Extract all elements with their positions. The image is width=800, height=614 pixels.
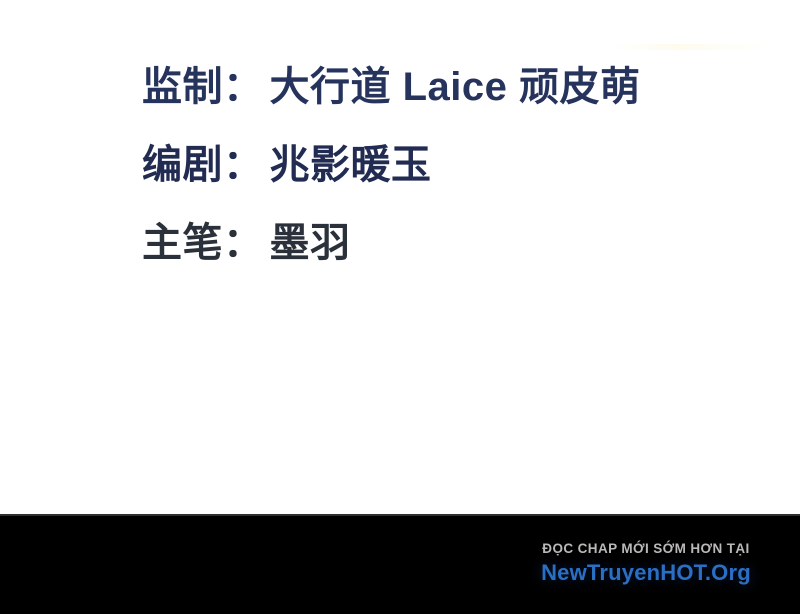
credit-names: 大行道 Laice 顽皮萌 <box>270 65 641 109</box>
footer-watermark-bar: ĐỌC CHAP MỚI SỚM HƠN TẠI NewTruyenHOT.Or… <box>0 514 800 614</box>
credit-role-label: 主笔： <box>142 221 264 265</box>
footer-divider <box>0 514 800 516</box>
credits-block: 监制：大行道 Laice 顽皮萌 编剧：兆影暖玉 主笔：墨羽 <box>142 48 762 282</box>
watermark-tagline: ĐỌC CHAP MỚI SỚM HƠN TẠI <box>516 540 776 557</box>
credit-names: 兆影暖玉 <box>270 143 432 187</box>
credit-names: 墨羽 <box>270 221 351 265</box>
credit-role-label: 监制： <box>142 65 264 109</box>
credit-role-label: 编剧： <box>142 143 264 187</box>
comic-credits-page: 监制：大行道 Laice 顽皮萌 编剧：兆影暖玉 主笔：墨羽 ĐỌC CHAP … <box>0 0 800 614</box>
site-watermark: ĐỌC CHAP MỚI SỚM HƠN TẠI NewTruyenHOT.Or… <box>516 540 776 586</box>
watermark-site-url[interactable]: NewTruyenHOT.Org <box>516 560 776 586</box>
credit-line-lead-artist: 主笔：墨羽 <box>142 204 762 282</box>
credit-line-producer: 监制：大行道 Laice 顽皮萌 <box>142 48 762 126</box>
credit-line-screenwriter: 编剧：兆影暖玉 <box>142 126 762 204</box>
